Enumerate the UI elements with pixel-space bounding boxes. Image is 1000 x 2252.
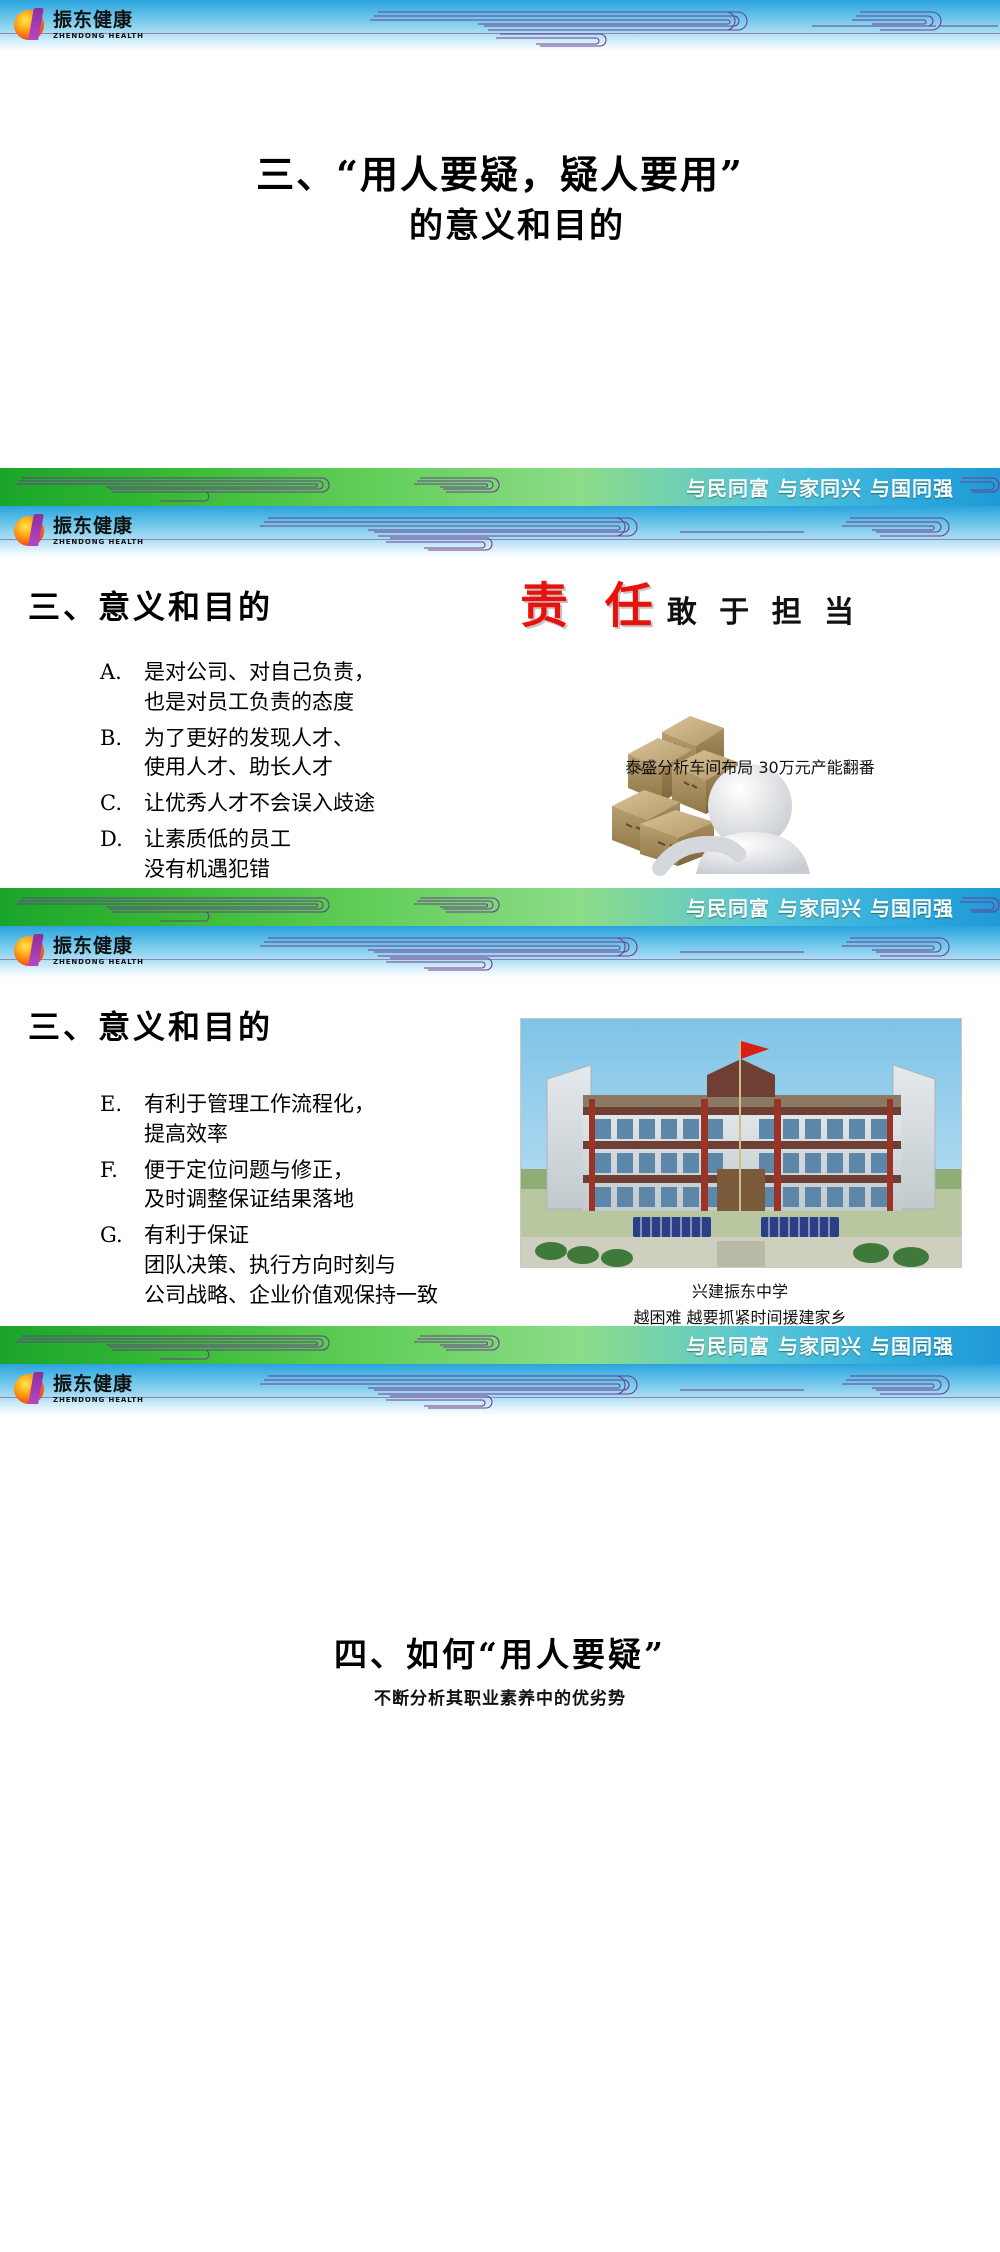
slide-3-body: 三、意义和目的 E. 有利于管理工作流程化， 提高效率 F. 便于定位问题与修正… <box>0 978 1000 1326</box>
list-item: B. 为了更好的发现人才、 使用人才、助长人才 <box>100 724 520 784</box>
brand-logo: 振东健康 ZHENDONG HEALTH <box>14 931 144 971</box>
list-item-text: 让优秀人才不会误入歧途 <box>144 789 375 819</box>
logo-chinese-name: 振东健康 <box>53 1375 144 1394</box>
list-item-marker: C. <box>100 789 144 819</box>
list-item-text: 是对公司、对自己负责， 也是对员工负责的态度 <box>144 658 375 718</box>
slide-3-green-motto-bar: 与民同富 与家同兴 与国同强 <box>0 888 1000 926</box>
slide-1-top-banner: 振东健康 ZHENDONG HEALTH <box>0 0 1000 52</box>
slide-4-subtitle: 不断分析其职业素养中的优劣势 <box>0 1684 1000 1709</box>
slide-1-title: 三、“用人要疑，疑人要用” 的意义和目的 <box>0 148 1000 250</box>
slide-2-image-caption: 泰盛分析车间布局 30万元产能翻番 <box>520 754 980 778</box>
logo-chinese-name: 振东健康 <box>53 517 144 536</box>
list-item-text: 便于定位问题与修正， 及时调整保证结果落地 <box>144 1156 354 1216</box>
list-item: E. 有利于管理工作流程化， 提高效率 <box>100 1090 520 1150</box>
slide-4-title: 四、如何“用人要疑” <box>0 1628 1000 1676</box>
list-item: G. 有利于保证 团队决策、执行方向时刻与 公司战略、企业价值观保持一致 <box>100 1221 520 1310</box>
logo-chinese-name: 振东健康 <box>53 11 144 30</box>
green-bar-right-ornament <box>958 472 1000 502</box>
green-bar-right-ornament <box>958 892 1000 922</box>
slide-3-top-banner: 振东健康 ZHENDONG HEALTH <box>0 926 1000 978</box>
list-item-marker: A. <box>100 658 144 688</box>
logo-english-name: ZHENDONG HEALTH <box>53 32 144 40</box>
pipe-ornament-group <box>250 932 990 974</box>
slide-2-green-motto-bar: 与民同富 与家同兴 与国同强 <box>0 468 1000 506</box>
slide-3-image-caption-line-2: 越困难 越要抓紧时间援建家乡 <box>500 1304 980 1326</box>
list-item-marker: B. <box>100 724 144 754</box>
slide-2: 与民同富 与家同兴 与国同强 振东健康 ZHE <box>0 468 1000 888</box>
list-item-text: 为了更好的发现人才、 使用人才、助长人才 <box>144 724 354 784</box>
list-item-marker: G. <box>100 1221 144 1251</box>
green-bar-pipe-ornament <box>10 892 610 922</box>
slide-2-section-heading: 三、意义和目的 <box>28 582 273 628</box>
brand-logo: 振东健康 ZHENDONG HEALTH <box>14 5 144 45</box>
slide-2-body: 三、意义和目的 A. 是对公司、对自己负责， 也是对员工负责的态度 B. 为了更… <box>0 558 1000 888</box>
person-carrying-boxes-image <box>600 698 900 883</box>
slide-4-top-banner: 振东健康 ZHENDONG HEALTH <box>0 1364 1000 1416</box>
green-bar-pipe-ornament <box>10 472 610 502</box>
company-motto: 与民同富 与家同兴 与国同强 <box>686 1331 954 1360</box>
list-item-text: 有利于管理工作流程化， 提高效率 <box>144 1090 375 1150</box>
pipe-ornament-group <box>250 512 990 554</box>
zhendong-logo-icon <box>14 1372 48 1406</box>
responsibility-red-text: 责 任 <box>520 566 663 636</box>
slide-3-image-caption-line-1: 兴建振东中学 <box>520 1278 960 1302</box>
slide-4: 与民同富 与家同兴 与国同强 振东健康 ZHE <box>0 1326 1000 1800</box>
zhendong-logo-icon <box>14 934 48 968</box>
banner-divider-rule <box>0 539 1000 540</box>
list-item: F. 便于定位问题与修正， 及时调整保证结果落地 <box>100 1156 520 1216</box>
list-item-marker: E. <box>100 1090 144 1120</box>
slide-3: 与民同富 与家同兴 与国同强 振东健康 ZHE <box>0 888 1000 1326</box>
slide-4-body: 四、如何“用人要疑” 不断分析其职业素养中的优劣势 与民同富 与家同兴 与国同强 <box>0 1416 1000 1800</box>
brand-logo: 振东健康 ZHENDONG HEALTH <box>14 1369 144 1409</box>
list-item: C. 让优秀人才不会误入歧途 <box>100 789 520 819</box>
school-building-image <box>520 1018 962 1268</box>
list-item-text: 有利于保证 团队决策、执行方向时刻与 公司战略、企业价值观保持一致 <box>144 1221 438 1310</box>
banner-divider-rule <box>0 33 1000 34</box>
responsibility-slogan: 责 任 敢 于 担 当 <box>520 566 980 626</box>
slide-1-body: 三、“用人要疑，疑人要用” 的意义和目的 <box>0 52 1000 468</box>
logo-english-name: ZHENDONG HEALTH <box>53 538 144 546</box>
logo-english-name: ZHENDONG HEALTH <box>53 958 144 966</box>
responsibility-black-text: 敢 于 担 当 <box>667 587 860 631</box>
company-motto: 与民同富 与家同兴 与国同强 <box>686 473 954 502</box>
list-item-marker: D. <box>100 825 144 855</box>
pipe-ornament-group <box>360 4 1000 50</box>
list-item: D. 让素质低的员工 没有机遇犯错 <box>100 825 520 885</box>
zhendong-logo-icon <box>14 514 48 548</box>
brand-logo: 振东健康 ZHENDONG HEALTH <box>14 511 144 551</box>
list-item-marker: F. <box>100 1156 144 1186</box>
slide-1-title-line-1: 三、“用人要疑，疑人要用” <box>256 152 744 197</box>
banner-divider-rule <box>0 1397 1000 1398</box>
zhendong-logo-icon <box>14 8 48 42</box>
company-motto: 与民同富 与家同兴 与国同强 <box>686 893 954 922</box>
logo-chinese-name: 振东健康 <box>53 937 144 956</box>
slide-3-bullet-list: E. 有利于管理工作流程化， 提高效率 F. 便于定位问题与修正， 及时调整保证… <box>100 1090 520 1317</box>
list-item-text: 让素质低的员工 没有机遇犯错 <box>144 825 291 885</box>
slide-1: 振东健康 ZHENDONG HEALTH 三、“用人要疑，疑人要用” 的意义和目… <box>0 0 1000 468</box>
slide-1-title-line-2: 的意义和目的 <box>0 202 1000 250</box>
pipe-ornament-group <box>250 1370 990 1412</box>
slide-4-green-motto-bar: 与民同富 与家同兴 与国同强 <box>0 1326 1000 1364</box>
slide-2-bullet-list: A. 是对公司、对自己负责， 也是对员工负责的态度 B. 为了更好的发现人才、 … <box>100 658 520 888</box>
slide-2-top-banner: 振东健康 ZHENDONG HEALTH <box>0 506 1000 558</box>
slide-3-section-heading: 三、意义和目的 <box>28 1002 273 1048</box>
banner-divider-rule <box>0 959 1000 960</box>
list-item: A. 是对公司、对自己负责， 也是对员工负责的态度 <box>100 658 520 718</box>
logo-english-name: ZHENDONG HEALTH <box>53 1396 144 1404</box>
green-bar-pipe-ornament <box>10 1330 610 1360</box>
